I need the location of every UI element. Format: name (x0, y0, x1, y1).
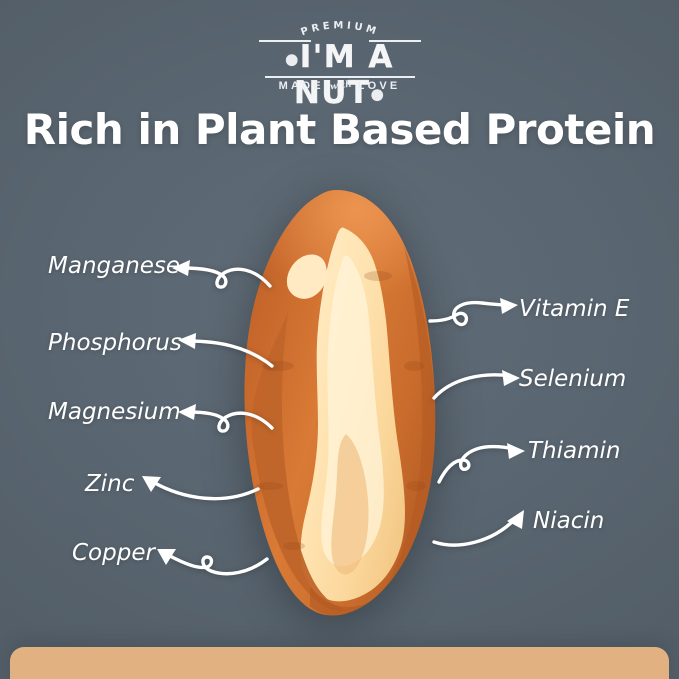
nut-body (218, 186, 468, 626)
label-thiamin: Thiamin (528, 438, 620, 464)
label-vitamin-e: Vitamin E (519, 296, 629, 322)
poster-canvas: PREMIUM ●I'M A NUT● MADE with LOVE Rich … (0, 0, 679, 679)
logo-love-text: LOVE (358, 80, 401, 92)
logo-premium-text: PREMIUM (299, 20, 380, 38)
label-zinc: Zinc (85, 471, 134, 497)
label-niacin: Niacin (533, 508, 604, 534)
label-copper: Copper (72, 540, 155, 566)
logo-premium-arc: PREMIUM (235, 14, 445, 40)
bottom-accent-bar (10, 647, 669, 679)
label-magnesium: Magnesium (48, 399, 181, 425)
label-manganese: Manganese (48, 253, 180, 279)
svg-text:PREMIUM: PREMIUM (299, 20, 380, 38)
label-selenium: Selenium (519, 366, 626, 392)
logo-made-text: MADE (279, 80, 324, 92)
logo-tagline: MADE with LOVE (235, 80, 445, 92)
logo-rule-bottom (265, 76, 415, 78)
page-title: Rich in Plant Based Protein (0, 105, 679, 154)
brazil-nut-image (218, 186, 468, 626)
brand-logo: PREMIUM ●I'M A NUT● MADE with LOVE (235, 14, 445, 96)
label-phosphorus: Phosphorus (48, 330, 182, 356)
logo-with-text: with (329, 80, 352, 93)
logo-dot-left: ● (285, 50, 300, 68)
